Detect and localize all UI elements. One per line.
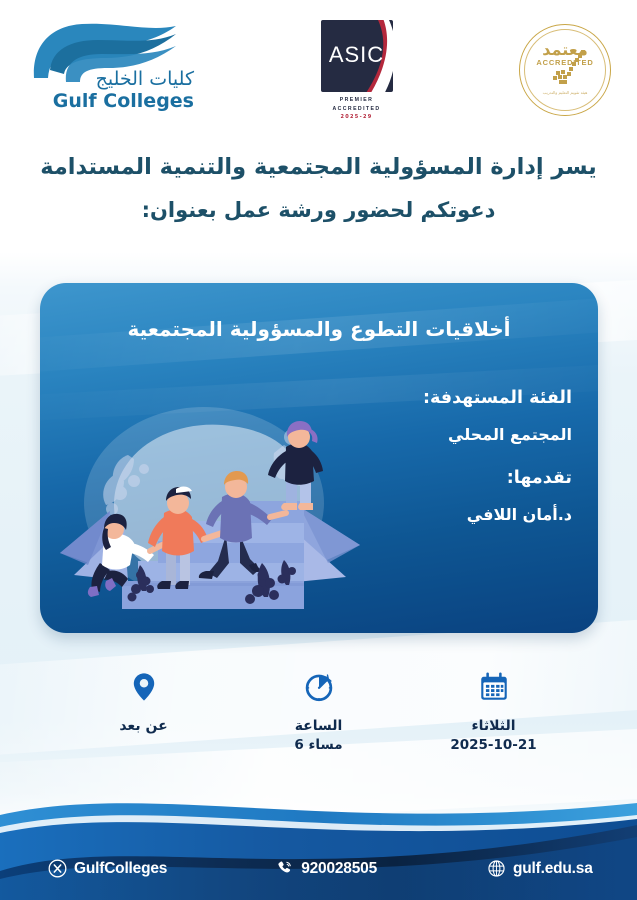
footer-website-label: gulf.edu.sa (513, 860, 593, 878)
seal-checkmark-icon (519, 24, 611, 116)
clock-icon (231, 664, 406, 710)
gulf-colleges-arabic-name: كليات الخليج (96, 68, 194, 90)
footer-wave-graphic (0, 775, 637, 900)
location-label: عن بعد (56, 718, 231, 734)
footer-website[interactable]: gulf.edu.sa (487, 859, 593, 878)
phone-icon (275, 859, 294, 878)
event-info-row: الثلاثاء 2025-10-21 الساعة 6 مساء (0, 664, 637, 753)
asic-year-text: 2025-29 (315, 114, 399, 120)
workshop-title: أخلاقيات التطوع والمسؤولية المجتمعية (40, 317, 598, 341)
globe-icon (487, 859, 506, 878)
date-day-label: الثلاثاء (406, 718, 581, 734)
date-value: 2025-10-21 (406, 737, 581, 753)
workshop-card: أخلاقيات التطوع والمسؤولية المجتمعية الف… (40, 283, 598, 633)
people-climbing-stairs-illustration (54, 385, 366, 625)
invitation-line-2: دعوتكم لحضور ورشة عمل بعنوان: (0, 198, 637, 222)
poster-footer: GulfColleges 920028505 gulf.edu.sa (0, 775, 637, 900)
accredited-gold-seal: معتمد ACCREDITED هيئة تقويم التعليم والت… (519, 24, 611, 116)
gulf-colleges-english-name: Gulf Colleges (53, 90, 194, 112)
info-item-date: الثلاثاء 2025-10-21 (406, 664, 581, 753)
location-pin-icon (56, 664, 231, 710)
info-item-time: الساعة 6 مساء (231, 664, 406, 753)
invitation-heading: يسر إدارة المسؤولية المجتمعية والتنمية ا… (0, 152, 637, 222)
asic-badge-icon: ASIC (321, 20, 393, 92)
invitation-line-1: يسر إدارة المسؤولية المجتمعية والتنمية ا… (0, 152, 637, 182)
event-poster: كليات الخليج Gulf Colleges ASIC PREMIER … (0, 0, 637, 900)
time-label: الساعة (231, 718, 406, 734)
gulf-colleges-logo: كليات الخليج Gulf Colleges (26, 16, 194, 124)
x-twitter-icon (48, 859, 67, 878)
footer-contact-row: GulfColleges 920028505 gulf.edu.sa (0, 859, 637, 878)
asic-accreditation-logo: ASIC PREMIER ACCREDITED 2025-29 (315, 20, 399, 121)
footer-phone[interactable]: 920028505 (275, 859, 377, 878)
footer-social-handle[interactable]: GulfColleges (48, 859, 167, 878)
seal-subtitle-text: هيئة تقويم التعليم والتدريب (519, 90, 611, 96)
asic-wordmark: ASIC (321, 42, 393, 68)
info-item-location: عن بعد (56, 664, 231, 753)
footer-phone-label: 920028505 (301, 860, 377, 878)
asic-premier-text: PREMIER (315, 96, 399, 105)
time-value: 6 مساء (231, 737, 406, 753)
logo-bar: كليات الخليج Gulf Colleges ASIC PREMIER … (0, 0, 637, 140)
footer-social-label: GulfColleges (74, 860, 167, 878)
calendar-icon (406, 664, 581, 710)
asic-accredited-text: ACCREDITED (315, 105, 399, 114)
